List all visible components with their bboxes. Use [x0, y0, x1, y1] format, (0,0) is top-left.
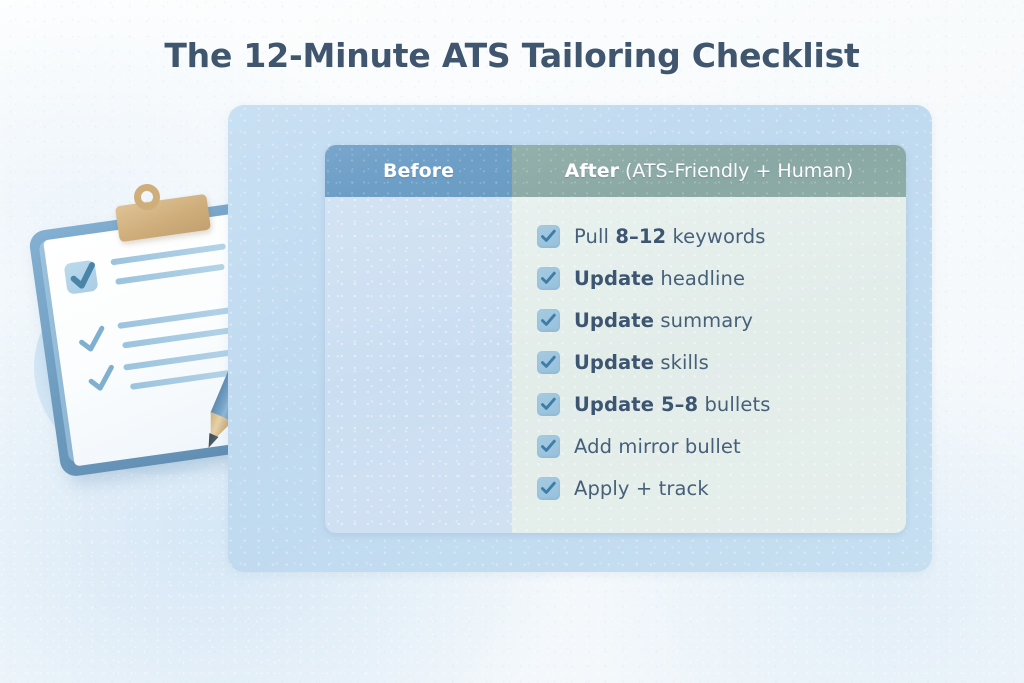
paper-checkmark-1	[72, 265, 94, 287]
table-column-after-body: Pull 8–12 keywords Update headline Updat…	[512, 197, 906, 533]
page-background: The 12-Minute ATS Tailoring Checklist	[0, 0, 1024, 683]
checkbox-checked-icon[interactable]	[537, 393, 560, 416]
list-item[interactable]: Update 5–8 bullets	[537, 383, 906, 425]
paper-checkmark-3	[90, 367, 114, 389]
list-item[interactable]: Apply + track	[537, 467, 906, 509]
table-header-before-label: Before	[383, 160, 454, 182]
checklist: Pull 8–12 keywords Update headline Updat…	[537, 215, 906, 509]
list-item[interactable]: Update headline	[537, 257, 906, 299]
table-column-before-body	[325, 197, 512, 533]
list-item[interactable]: Update skills	[537, 341, 906, 383]
list-item[interactable]: Update summary	[537, 299, 906, 341]
table-header-row: Before After (ATS-Friendly + Human)	[325, 145, 906, 197]
table-body: Pull 8–12 keywords Update headline Updat…	[325, 197, 906, 533]
list-item-label: Add mirror bullet	[574, 435, 741, 458]
table-header-after-label: After (ATS-Friendly + Human)	[565, 160, 854, 182]
comparison-table-card: Before After (ATS-Friendly + Human) Pull…	[325, 145, 906, 533]
list-item-label: Update skills	[574, 351, 709, 374]
checkbox-checked-icon[interactable]	[537, 477, 560, 500]
page-title: The 12-Minute ATS Tailoring Checklist	[0, 36, 1024, 75]
checkbox-checked-icon[interactable]	[537, 435, 560, 458]
list-item-label: Update 5–8 bullets	[574, 393, 771, 416]
list-item-label: Pull 8–12 keywords	[574, 225, 766, 248]
list-item-label: Apply + track	[574, 477, 709, 500]
table-header-after: After (ATS-Friendly + Human)	[512, 145, 906, 197]
list-item[interactable]: Pull 8–12 keywords	[537, 215, 906, 257]
checkbox-checked-icon[interactable]	[537, 351, 560, 374]
list-item[interactable]: Add mirror bullet	[537, 425, 906, 467]
table-header-before: Before	[325, 145, 512, 197]
list-item-label: Update headline	[574, 267, 745, 290]
checkbox-checked-icon[interactable]	[537, 309, 560, 332]
checkbox-checked-icon[interactable]	[537, 225, 560, 248]
list-item-label: Update summary	[574, 309, 753, 332]
paper-checkmark-2	[80, 328, 104, 350]
checkbox-checked-icon[interactable]	[537, 267, 560, 290]
